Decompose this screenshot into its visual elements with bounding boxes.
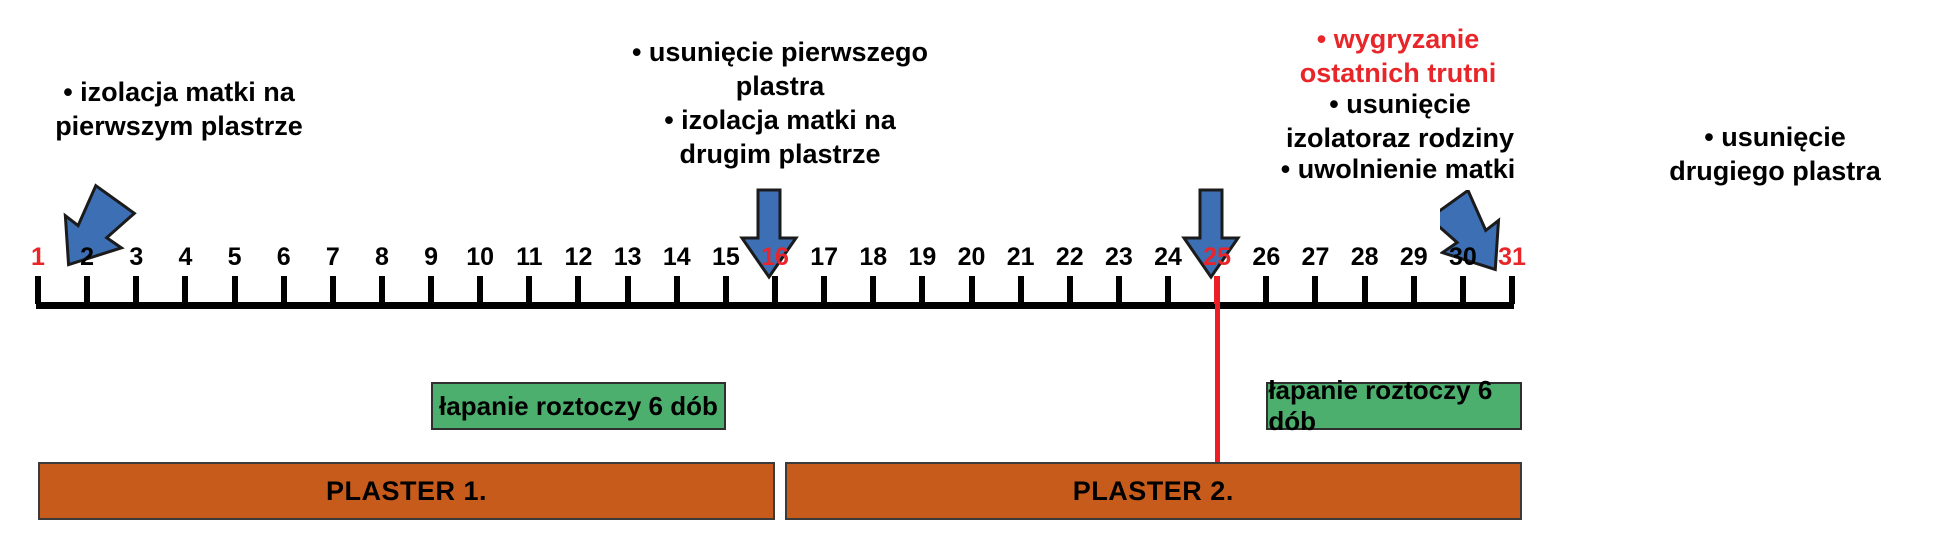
axis-tick-day-7 [330,276,336,304]
annotation-note-day-31: • usunięcie drugiego plastra [1625,120,1925,188]
red-marker-line-day-25 [1215,276,1220,476]
axis-tick-day-15 [723,276,729,304]
annotation-note-day-25-red: • wygryzanie ostatnich trutni [1248,22,1548,90]
axis-tick-day-20 [969,276,975,304]
axis-tick-day-22 [1067,276,1073,304]
annotation-note-day-25-remove-isolator: • usunięcie izolatoraz rodziny [1230,87,1570,155]
axis-tick-day-23 [1116,276,1122,304]
axis-tick-day-9 [428,276,434,304]
annotation-note-day-25-release-queen: • uwolnienie matki [1228,152,1568,186]
axis-tick-day-5 [232,276,238,304]
axis-tick-day-12 [575,276,581,304]
axis-tick-day-1 [35,276,41,304]
axis-tick-day-13 [625,276,631,304]
axis-tick-day-29 [1411,276,1417,304]
axis-label-day-31: 31 [1482,243,1542,272]
axis-tick-day-30 [1460,276,1466,304]
axis-tick-day-21 [1018,276,1024,304]
axis-tick-day-17 [821,276,827,304]
axis-tick-day-18 [870,276,876,304]
annotation-note-day-16: • usunięcie pierwszego plastra • izolacj… [620,35,940,171]
axis-tick-day-31 [1509,276,1515,304]
axis-tick-day-10 [477,276,483,304]
axis-tick-day-4 [182,276,188,304]
axis-tick-day-28 [1362,276,1368,304]
axis-tick-day-27 [1312,276,1318,304]
green-bar-mite-catch-1: łapanie roztoczy 6 dób [431,382,726,430]
axis-tick-day-24 [1165,276,1171,304]
axis-tick-day-6 [281,276,287,304]
axis-tick-day-14 [674,276,680,304]
orange-bar-plaster-2: PLASTER 2. [785,462,1522,520]
axis-tick-day-8 [379,276,385,304]
green-bar-mite-catch-2: łapanie roztoczy 6 dób [1266,382,1521,430]
orange-bar-plaster-1: PLASTER 1. [38,462,775,520]
axis-tick-day-19 [919,276,925,304]
annotation-note-day-1: • izolacja matki na pierwszym plastrze [14,75,344,143]
axis-tick-day-3 [133,276,139,304]
axis-tick-day-2 [84,276,90,304]
axis-tick-day-11 [526,276,532,304]
axis-tick-day-26 [1263,276,1269,304]
axis-tick-day-16 [772,276,778,304]
timeline-diagram: • izolacja matki na pierwszym plastrze •… [0,0,1953,555]
